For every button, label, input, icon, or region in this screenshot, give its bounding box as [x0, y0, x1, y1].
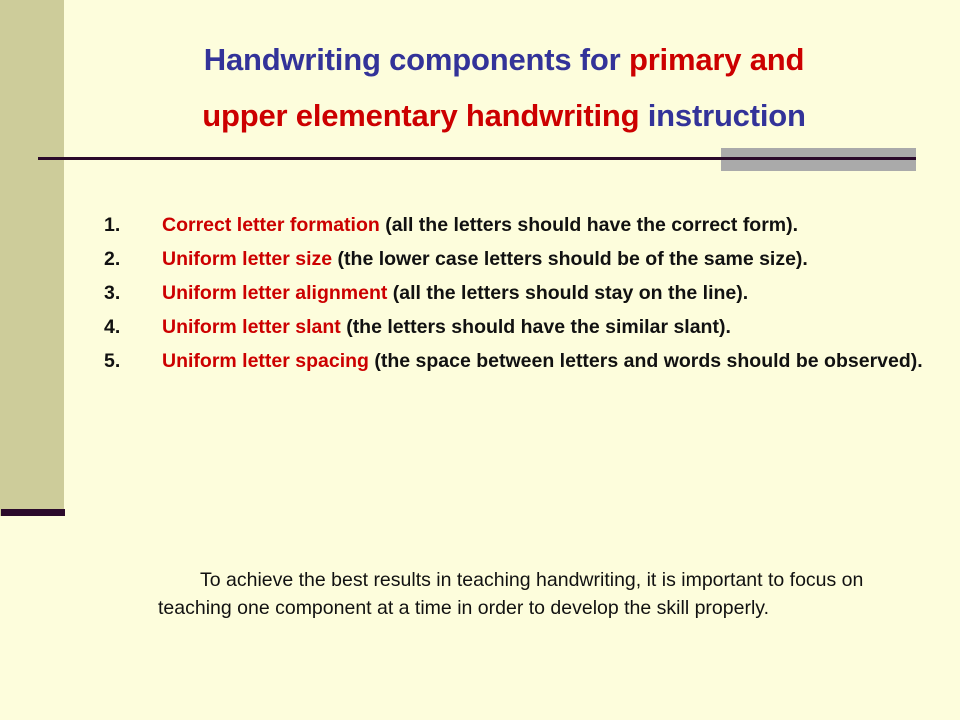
list-item-term: Uniform letter spacing — [162, 350, 369, 372]
list-item-number: 5. — [104, 347, 150, 376]
title-line-1-blue: Handwriting components for — [204, 42, 629, 77]
page-title: Handwriting components for primary and u… — [64, 32, 944, 144]
list-item-detail: (the letters should have the similar sla… — [341, 316, 731, 338]
title-line-1-red: primary and — [629, 42, 804, 77]
list-item-detail: (the space between letters and words sho… — [369, 350, 923, 372]
list-item-number: 2. — [104, 245, 150, 274]
list-item-detail: (the lower case letters should be of the… — [332, 248, 808, 270]
slide-canvas: Handwriting components for primary and u… — [0, 0, 960, 720]
list-item-number: 4. — [104, 313, 150, 342]
list-item-term: Uniform letter size — [162, 248, 332, 270]
handwriting-components-list: 1.Correct letter formation (all the lett… — [104, 211, 924, 381]
list-item: 5.Uniform letter spacing (the space betw… — [104, 347, 924, 376]
list-item-term: Uniform letter slant — [162, 316, 341, 338]
title-line-2: upper elementary handwriting instruction — [64, 88, 944, 144]
list-item: 2.Uniform letter size (the lower case le… — [104, 245, 924, 274]
list-item-number: 3. — [104, 279, 150, 308]
list-item-term: Uniform letter alignment — [162, 282, 387, 304]
title-line-1: Handwriting components for primary and — [64, 32, 944, 88]
list-item: 4.Uniform letter slant (the letters shou… — [104, 313, 924, 342]
decorative-sidebar-band — [0, 0, 64, 516]
decorative-sidebar-foot-bar — [1, 509, 65, 516]
closing-paragraph: To achieve the best results in teaching … — [158, 566, 930, 622]
list-item-detail: (all the letters should have the correct… — [380, 214, 798, 236]
list-item: 3.Uniform letter alignment (all the lett… — [104, 279, 924, 308]
list-item-number: 1. — [104, 211, 150, 240]
list-item-detail: (all the letters should stay on the line… — [387, 282, 748, 304]
title-line-2-blue: instruction — [639, 98, 805, 133]
list-item: 1.Correct letter formation (all the lett… — [104, 211, 924, 240]
title-line-2-red: upper elementary handwriting — [202, 98, 639, 133]
list-item-term: Correct letter formation — [162, 214, 380, 236]
title-divider-rule — [38, 157, 916, 160]
